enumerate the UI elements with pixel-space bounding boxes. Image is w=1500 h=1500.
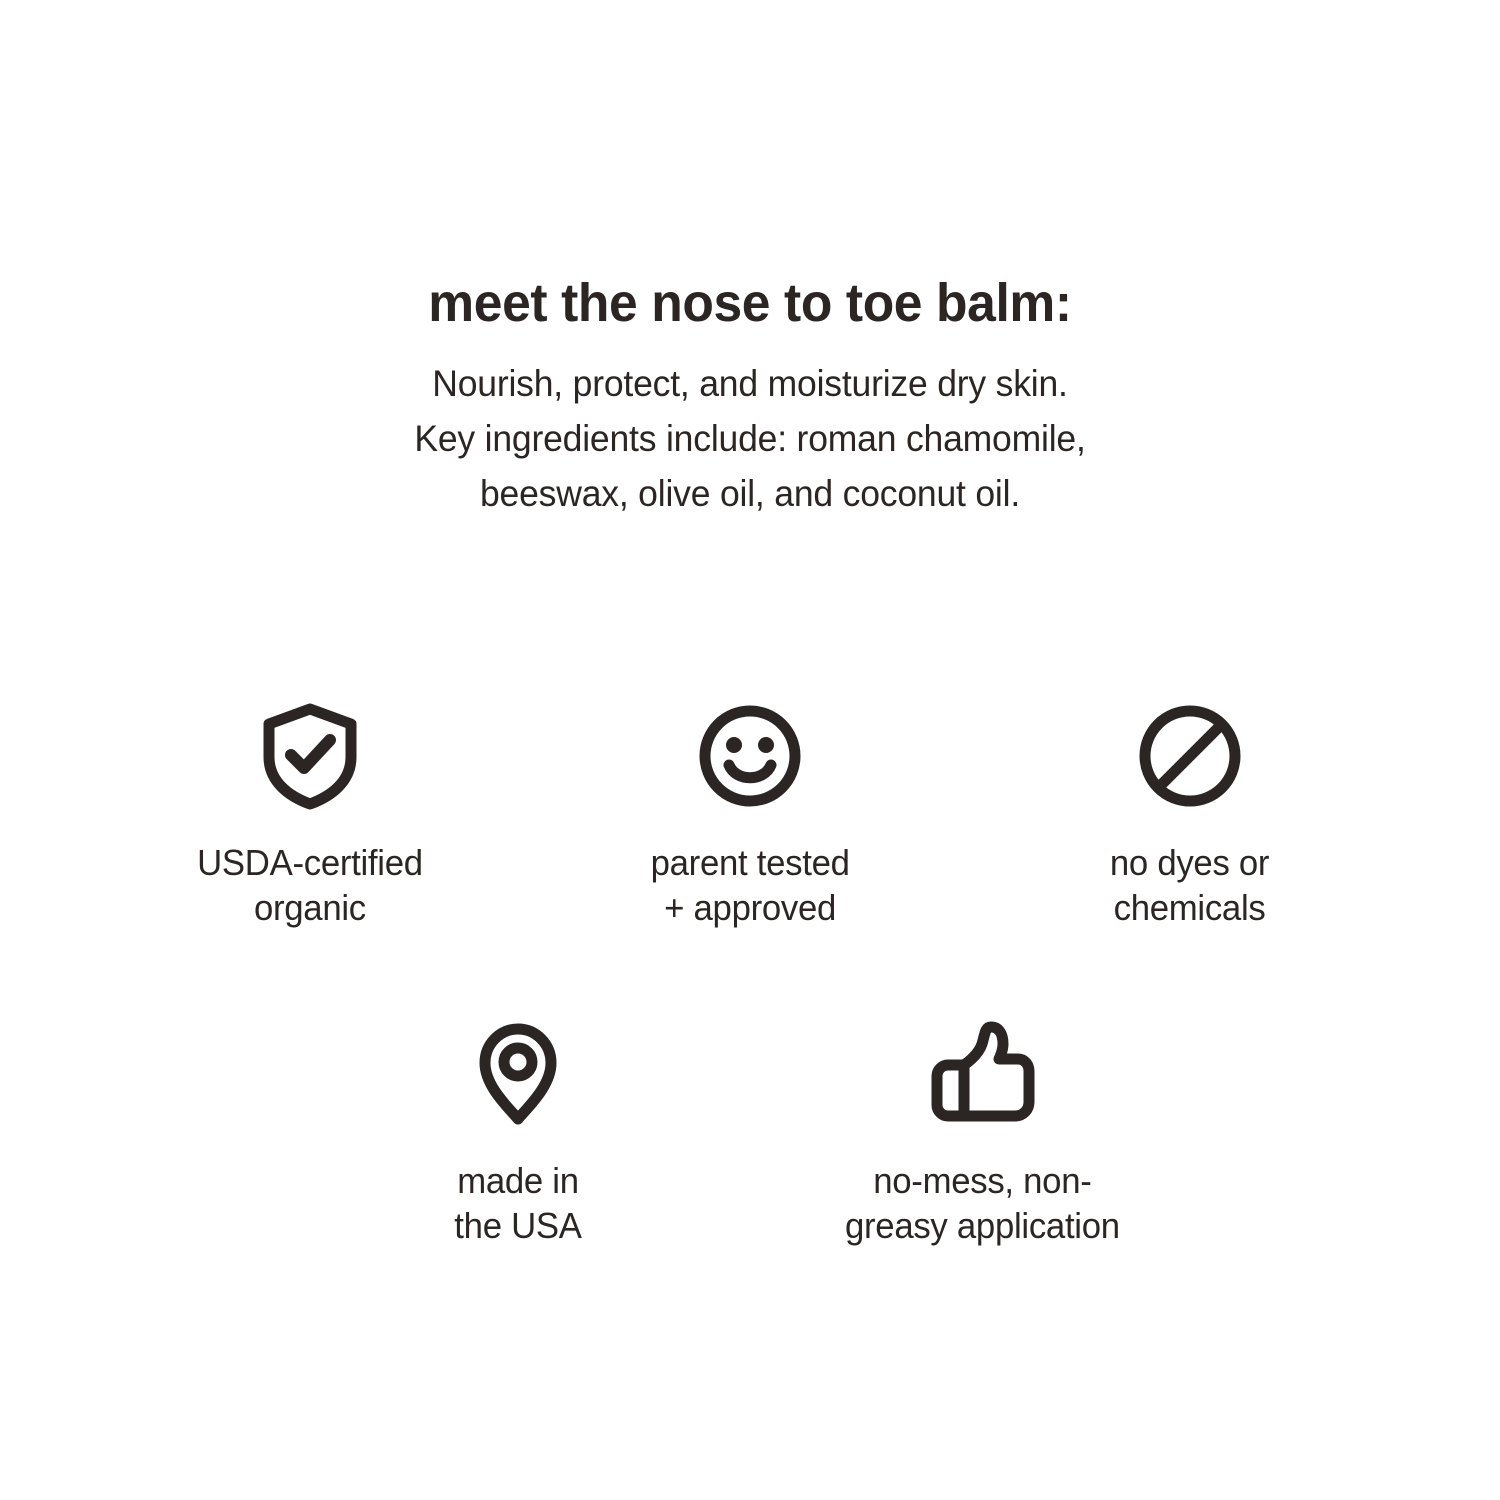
- description-line-1: Nourish, protect, and moisturize dry ski…: [30, 356, 1470, 411]
- map-pin-icon: [462, 1018, 574, 1130]
- badge-label: parent tested + approved: [650, 840, 849, 930]
- smiley-face-icon: [694, 700, 806, 812]
- benefit-badge-row-1: USDA-certified organic parent tested + a…: [0, 700, 1500, 930]
- badge-usda-certified-organic: USDA-certified organic: [142, 700, 478, 930]
- shield-check-icon: [254, 700, 366, 812]
- badge-label: no-mess, non- greasy application: [845, 1158, 1120, 1248]
- product-description: Nourish, protect, and moisturize dry ski…: [30, 356, 1470, 521]
- page-title: meet the nose to toe balm:: [34, 272, 1467, 334]
- product-benefits-panel: meet the nose to toe balm: Nourish, prot…: [0, 0, 1500, 1500]
- prohibition-icon: [1134, 700, 1246, 812]
- badge-made-in-the-usa: made in the USA: [350, 1018, 686, 1248]
- badge-parent-tested-approved: parent tested + approved: [582, 700, 918, 930]
- badge-label: no dyes or chemicals: [1110, 840, 1269, 930]
- badge-no-mess-non-greasy: no-mess, non- greasy application: [814, 1018, 1150, 1248]
- description-line-3: beeswax, olive oil, and coconut oil.: [30, 466, 1470, 521]
- badge-label: USDA-certified organic: [197, 840, 423, 930]
- description-line-2: Key ingredients include: roman chamomile…: [30, 411, 1470, 466]
- thumbs-up-icon: [926, 1018, 1038, 1130]
- header-block: meet the nose to toe balm: Nourish, prot…: [0, 272, 1500, 521]
- badge-label: made in the USA: [454, 1158, 581, 1248]
- badge-no-dyes-or-chemicals: no dyes or chemicals: [1022, 700, 1358, 930]
- benefit-badge-grid: USDA-certified organic parent tested + a…: [0, 700, 1500, 1248]
- benefit-badge-row-2: made in the USA no-mess, non- greasy app…: [0, 1018, 1500, 1248]
